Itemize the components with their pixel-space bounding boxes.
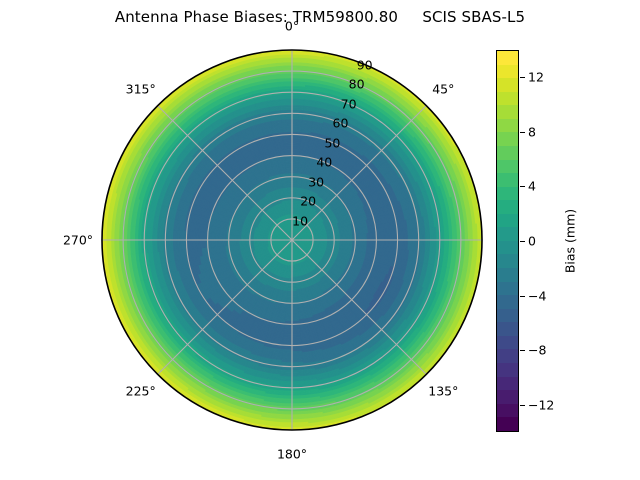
figure-canvas: Antenna Phase Biases: TRM59800.80 SCIS S… (0, 0, 640, 480)
